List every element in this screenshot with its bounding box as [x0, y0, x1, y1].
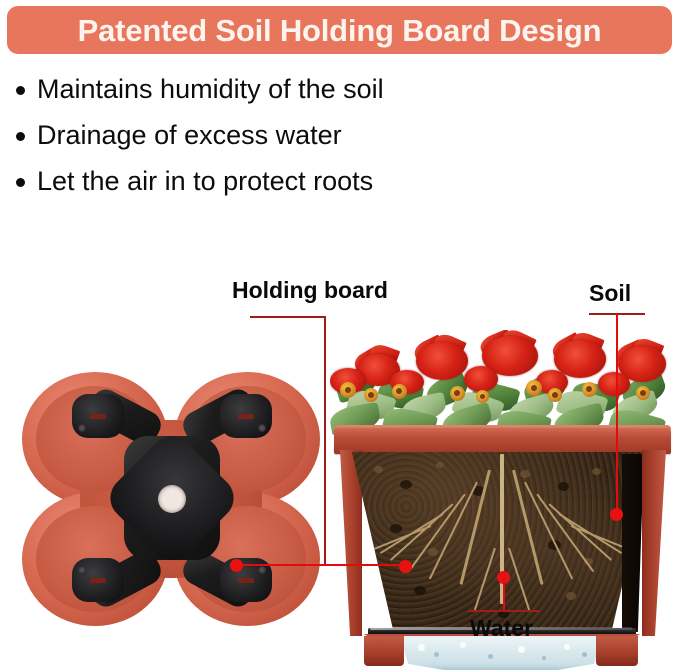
- callout-label-water: Water: [470, 617, 533, 640]
- feature-list: Maintains humidity of the soil Drainage …: [16, 72, 616, 210]
- feature-text: Let the air in to protect roots: [37, 164, 373, 198]
- callout-cap-holding-board: [250, 316, 326, 318]
- planter-wall-right: [642, 450, 666, 636]
- callout-label-soil: Soil: [589, 282, 631, 305]
- list-item: Drainage of excess water: [16, 118, 616, 164]
- callout-cap-water: [468, 610, 540, 612]
- callout-stem-soil: [616, 313, 618, 511]
- callout-stem-holding-board: [324, 316, 326, 565]
- callout-label-holding-board: Holding board: [232, 279, 388, 302]
- bullet-dot-icon: [16, 178, 25, 187]
- planter-foot-left: [364, 636, 404, 666]
- page-title: Patented Soil Holding Board Design: [78, 15, 602, 46]
- water-reservoir: [400, 636, 602, 670]
- callout-line-holding-board-left: [240, 564, 326, 566]
- bullet-dot-icon: [16, 86, 25, 95]
- flowers-and-foliage: [330, 330, 675, 436]
- callout-line-holding-board-right: [326, 564, 406, 566]
- callout-dot-holding-board-left: [230, 559, 243, 572]
- list-item: Let the air in to protect roots: [16, 164, 616, 210]
- feature-text: Drainage of excess water: [37, 118, 342, 152]
- callout-dot-holding-board-right: [399, 560, 412, 573]
- list-item: Maintains humidity of the soil: [16, 72, 616, 118]
- callout-stem-water: [503, 577, 505, 611]
- planter-rim: [334, 428, 671, 454]
- drain-hole: [158, 485, 186, 513]
- topdown-planter-illustration: [16, 368, 326, 630]
- callout-dot-soil: [610, 508, 623, 521]
- planter-cutaway-shadow: [622, 454, 644, 632]
- header-banner: Patented Soil Holding Board Design: [7, 6, 672, 54]
- product-diagram: Holding board Soil Water: [0, 255, 679, 652]
- feature-text: Maintains humidity of the soil: [37, 72, 384, 106]
- planter-foot-right: [596, 636, 638, 666]
- bullet-dot-icon: [16, 132, 25, 141]
- holding-board-insert: [66, 390, 278, 606]
